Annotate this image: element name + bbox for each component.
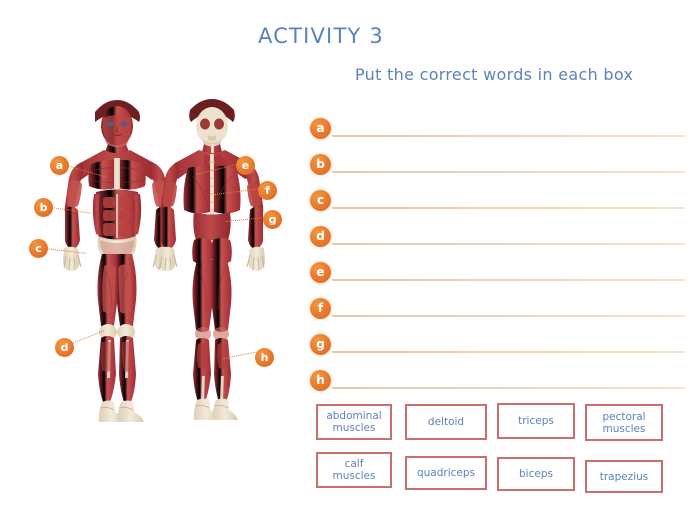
worksheet-page: ACTIVITY 3 Put the correct words in each… <box>0 0 700 525</box>
answer-input-b[interactable] <box>332 171 685 173</box>
answer-input-d[interactable] <box>332 243 685 245</box>
word-box-trapezius[interactable]: trapezius <box>585 460 663 493</box>
answer-bullet-e: e <box>310 262 331 283</box>
anterior-figure <box>63 100 171 422</box>
answer-input-h[interactable] <box>332 387 685 389</box>
answer-input-f[interactable] <box>332 315 685 317</box>
instruction-text: Put the correct words in each box <box>355 65 633 84</box>
word-bank: abdominal muscles deltoid triceps pector… <box>316 402 696 498</box>
callout-d[interactable]: d <box>55 338 74 357</box>
answer-bullet-d: d <box>310 226 331 247</box>
word-box-triceps[interactable]: triceps <box>497 403 575 439</box>
callout-e[interactable]: e <box>236 156 255 175</box>
answer-input-g[interactable] <box>332 351 685 353</box>
word-box-deltoid[interactable]: deltoid <box>405 404 487 440</box>
answer-bullet-h: h <box>310 370 331 391</box>
word-bank-row: abdominal muscles deltoid triceps pector… <box>316 402 696 444</box>
answer-bullet-a: a <box>310 118 331 139</box>
answer-row[interactable]: b <box>310 154 685 180</box>
callout-f[interactable]: f <box>258 181 277 200</box>
callout-g[interactable]: g <box>263 210 282 229</box>
word-bank-row: calf muscles quadriceps biceps trapezius <box>316 452 696 494</box>
posterior-figure <box>159 99 265 420</box>
answer-row[interactable]: g <box>310 334 685 360</box>
answer-input-a[interactable] <box>332 135 685 137</box>
page-title: ACTIVITY 3 <box>258 24 384 48</box>
word-box-abdominal-muscles[interactable]: abdominal muscles <box>316 404 392 440</box>
answer-lines-list: a b c d e f g h <box>310 118 685 393</box>
answer-row[interactable]: a <box>310 118 685 144</box>
answer-row[interactable]: h <box>310 370 685 396</box>
answer-row[interactable]: e <box>310 262 685 288</box>
answer-bullet-b: b <box>310 154 331 175</box>
callout-a[interactable]: a <box>50 156 69 175</box>
answer-row[interactable]: d <box>310 226 685 252</box>
answer-bullet-c: c <box>310 190 331 211</box>
word-box-biceps[interactable]: biceps <box>497 457 575 491</box>
answer-bullet-f: f <box>310 298 331 319</box>
answer-row[interactable]: c <box>310 190 685 216</box>
anatomy-diagram: a b c d e f g h <box>18 90 288 460</box>
answer-row[interactable]: f <box>310 298 685 324</box>
callout-b[interactable]: b <box>34 198 53 217</box>
word-box-calf-muscles[interactable]: calf muscles <box>316 452 392 488</box>
answer-input-e[interactable] <box>332 279 685 281</box>
callout-c[interactable]: c <box>29 239 48 258</box>
callout-h[interactable]: h <box>255 348 274 367</box>
answer-input-c[interactable] <box>332 207 685 209</box>
word-box-pectoral-muscles[interactable]: pectoral muscles <box>585 404 663 441</box>
answer-bullet-g: g <box>310 334 331 355</box>
word-box-quadriceps[interactable]: quadriceps <box>405 456 487 490</box>
